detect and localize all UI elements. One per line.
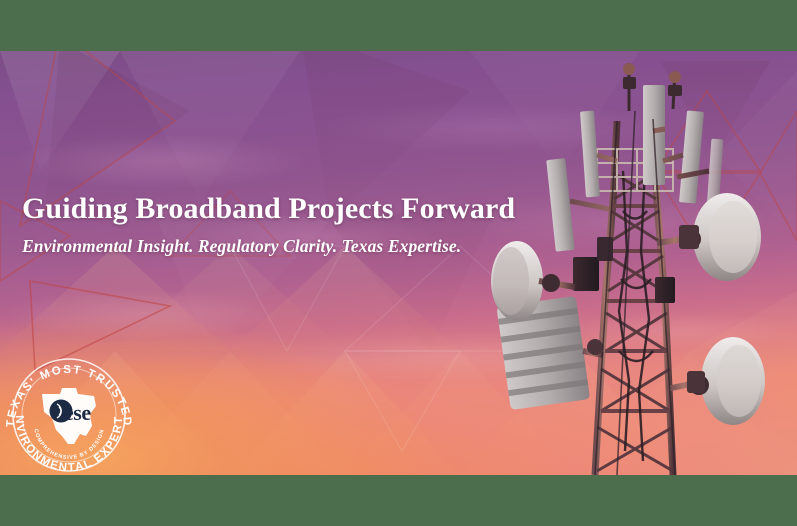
- trust-badge-seal: ese TEXAS' MOST TRUSTED ENVIRONMENTAL EX…: [0, 344, 140, 475]
- svg-text:ese: ese: [64, 400, 91, 425]
- banner-page: Guiding Broadband Projects Forward Envir…: [0, 0, 797, 526]
- ese-logo: ese: [50, 400, 92, 426]
- hero-copy: Guiding Broadband Projects Forward Envir…: [22, 192, 502, 257]
- hero-banner: Guiding Broadband Projects Forward Envir…: [0, 51, 797, 475]
- page-subtitle: Environmental Insight. Regulatory Clarit…: [22, 236, 502, 257]
- cell-tower-image: [477, 51, 797, 475]
- page-title: Guiding Broadband Projects Forward: [22, 192, 502, 225]
